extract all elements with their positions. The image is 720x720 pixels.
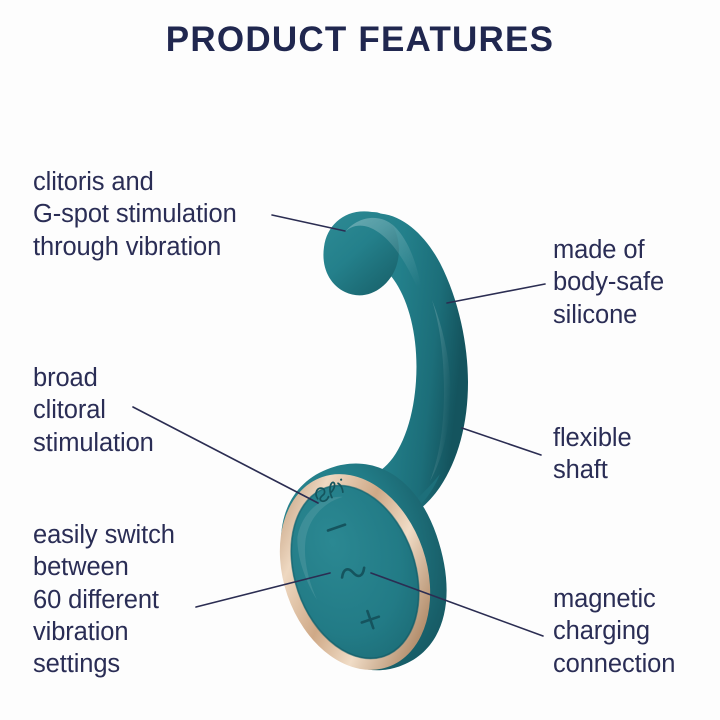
leader-line-broad: [133, 407, 318, 503]
leader-line-settings: [196, 573, 330, 607]
leader-line-layer: [0, 0, 720, 720]
leader-line-gspot: [272, 215, 345, 231]
leader-line-magnetic: [371, 573, 543, 636]
product-features-infographic: PRODUCT FEATURES: [0, 0, 720, 720]
leader-line-shaft: [462, 428, 541, 455]
leader-line-silicone: [447, 284, 545, 303]
